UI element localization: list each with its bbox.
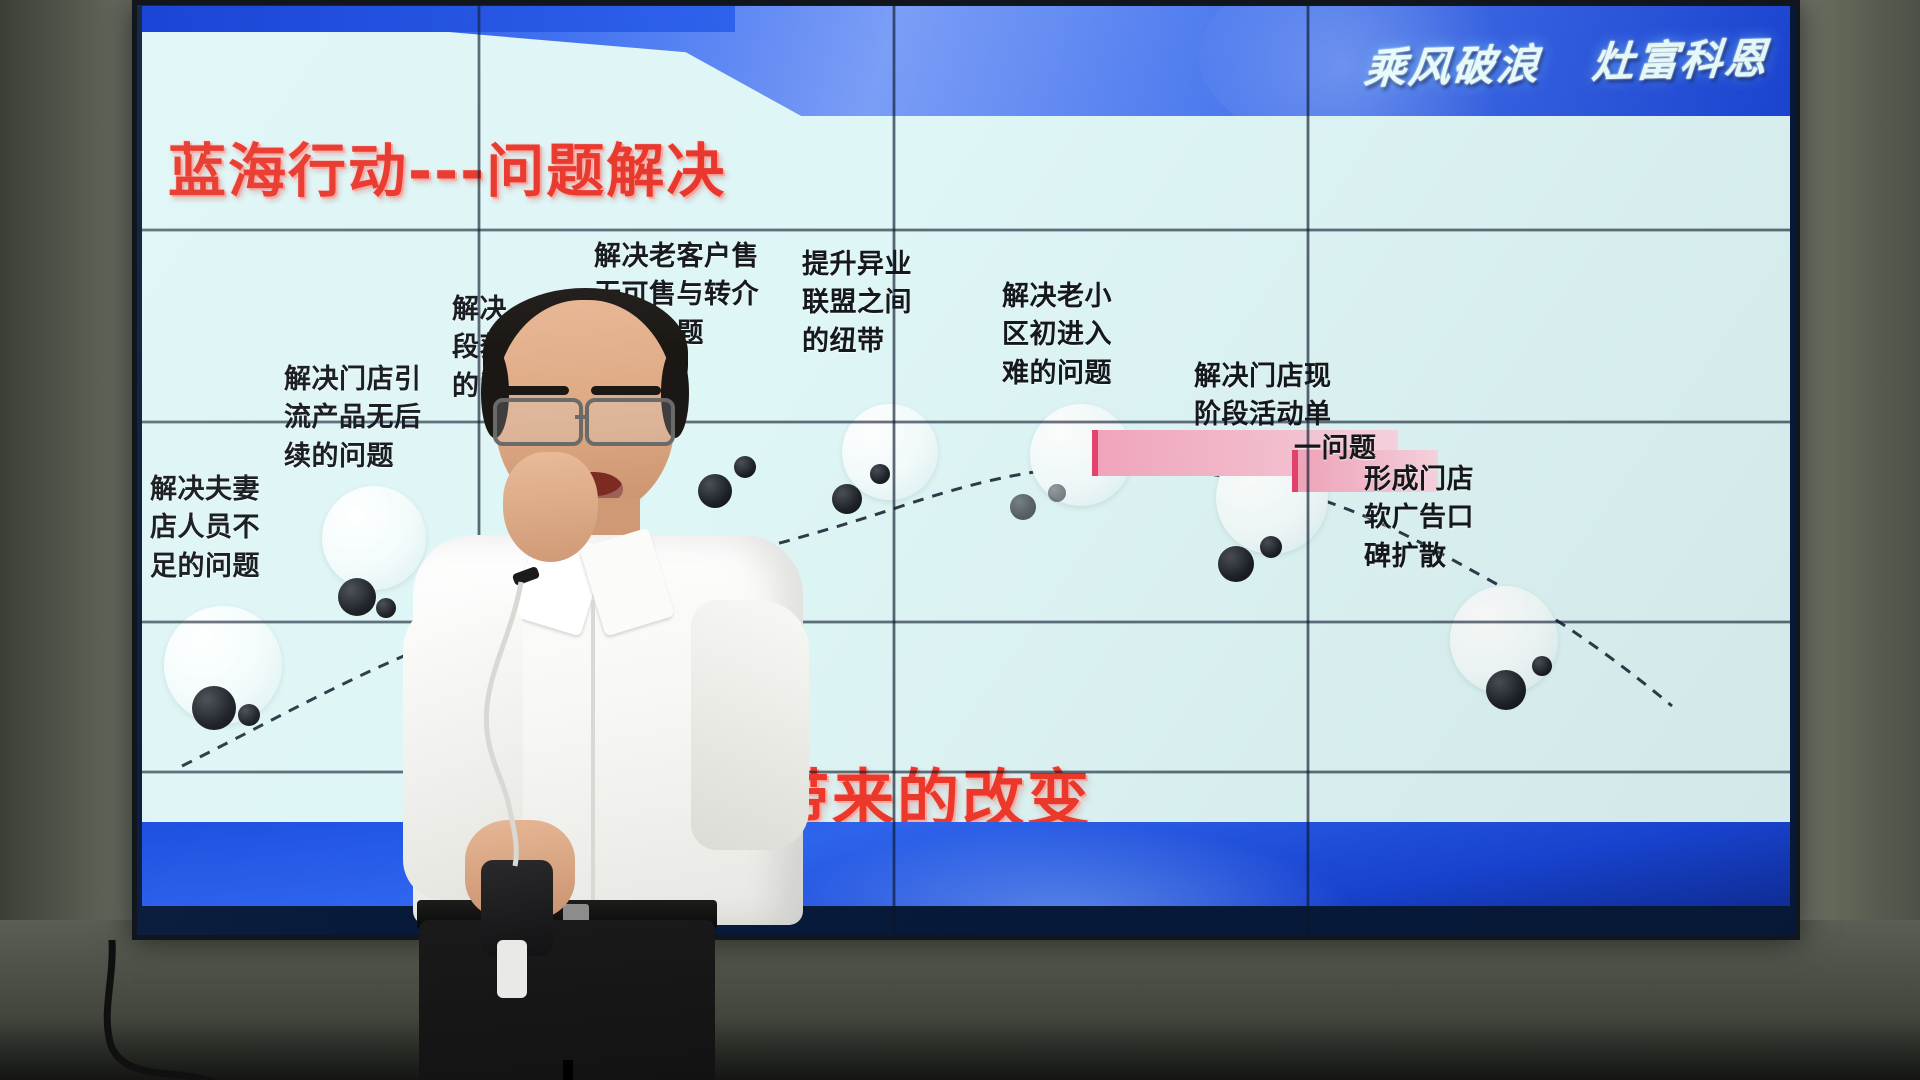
brand-logo-part2: 灶富科恩	[1590, 34, 1770, 88]
presenter-figure	[395, 300, 815, 1080]
bubble-decoration	[338, 578, 376, 616]
slide-title: 蓝海行动---问题解决	[168, 124, 726, 208]
eyeglasses-bridge	[575, 415, 589, 419]
bubble-decoration	[238, 704, 260, 726]
brand-logo: 乘风破浪 灶富科恩	[1362, 25, 1771, 97]
bubble-decoration	[1218, 546, 1254, 582]
callout-text: 提升异业 联盟之间 的纽带	[802, 246, 912, 361]
bubble-decoration	[1486, 670, 1526, 710]
presenter-trousers	[419, 920, 715, 1080]
callout-text: 解决夫妻 店人员不 足的问题	[150, 471, 260, 586]
bubble-decoration	[870, 464, 890, 484]
callout-text: 解决老小 区初进入 难的问题	[1002, 278, 1112, 393]
presenter-eyebrow-left	[499, 386, 569, 395]
presenter-arm-right	[691, 600, 809, 850]
footer-banner-glow	[768, 822, 1361, 906]
brand-logo-part1: 乘风破浪	[1362, 40, 1542, 94]
clicker-remote-tip	[497, 940, 527, 998]
room-wall-right	[1800, 0, 1920, 1080]
led-video-wall[interactable]: 乘风破浪 灶富科恩 蓝海行动---问题解决	[132, 0, 1800, 940]
bubble-decoration	[1532, 656, 1552, 676]
header-banner-strip	[142, 6, 735, 32]
bubble-decoration	[842, 404, 938, 500]
bubble-decoration	[192, 686, 236, 730]
eyeglasses-lens-left	[493, 398, 583, 446]
bubble-decoration	[1260, 536, 1282, 558]
bubble-decoration	[1010, 494, 1036, 520]
room-wall-left	[0, 0, 132, 1080]
power-cable-icon	[98, 940, 228, 1080]
screenshot-stage: 乘风破浪 灶富科恩 蓝海行动---问题解决	[0, 0, 1920, 1080]
bubble-decoration	[376, 598, 396, 618]
presentation-slide: 乘风破浪 灶富科恩 蓝海行动---问题解决	[142, 6, 1790, 906]
trouser-leg-seam	[563, 1060, 573, 1080]
eyeglasses-lens-right	[585, 398, 675, 446]
bubble-decoration	[832, 484, 862, 514]
callout-text: 形成门店 软广告口 碑扩散	[1364, 461, 1474, 576]
bubble-decoration	[1048, 484, 1066, 502]
callout-text: 解决门店现 阶段活动单	[1194, 358, 1332, 435]
floor-shadow	[0, 1020, 1920, 1080]
presenter-eyebrow-right	[591, 386, 661, 395]
shirt-placket	[591, 600, 595, 920]
presenter-hand-raised	[503, 452, 598, 562]
